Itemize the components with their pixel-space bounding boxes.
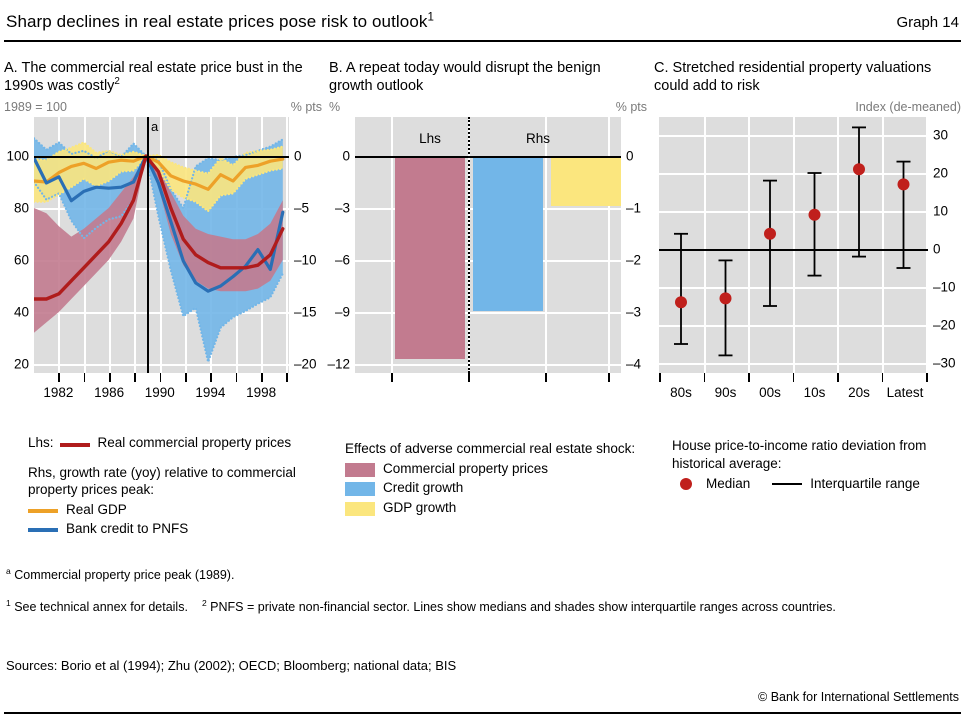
panel-b-legend: Effects of adverse commercial real estat… — [345, 440, 645, 516]
legend-b-row-gdp: GDP growth — [345, 499, 645, 517]
panel-c-marker-00s — [763, 181, 777, 306]
panel-c-tickbar — [659, 373, 928, 385]
legend-a-row-lhs: Lhs: Real commercial property prices — [28, 434, 328, 452]
legend-b-key-commercial-property-prices — [345, 463, 375, 477]
panel-a-ytick-left-0: 100 — [6, 149, 29, 164]
panel-a-unit-right: % pts — [291, 100, 322, 114]
title-footnote-marker: 1 — [427, 11, 434, 23]
legend-a-row-gdp: Real GDP — [28, 501, 328, 519]
legend-c-key-range-line — [772, 483, 802, 486]
panel-b: B. A repeat today would disrupt the beni… — [329, 60, 647, 385]
panel-b-ytick-right-0: 0 — [626, 149, 634, 164]
panel-b-ytick-right-4: –4 — [626, 357, 641, 372]
panel-a-xlabel-2: 1990 — [145, 385, 175, 400]
panel-c-units: Index (de-meaned) — [654, 100, 961, 117]
legend-b-label-credit-growth: Credit growth — [383, 479, 645, 497]
panel-c-ytick-5: –20 — [933, 318, 956, 333]
legend-c-median-dot-icon — [680, 478, 692, 490]
legend-a-row-credit: Bank credit to PNFS — [28, 520, 328, 538]
panel-c-ytick-2: 10 — [933, 204, 948, 219]
panel-c-zero-line — [659, 249, 928, 251]
page-header: Sharp declines in real estate prices pos… — [0, 8, 965, 44]
panel-c-marker-20s — [852, 127, 866, 256]
panel-b-unit-right: % pts — [616, 100, 647, 114]
panel-a-ytick-right-2: –10 — [294, 253, 317, 268]
footnote-1-marker: 1 — [6, 598, 11, 608]
panel-a-title: A. The commercial real estate price bust… — [4, 60, 322, 100]
panel-b-bar-credit-growth — [473, 156, 543, 311]
panel-a-xlabel-3: 1994 — [195, 385, 225, 400]
panel-b-bar-gdp-growth — [551, 156, 621, 206]
panel-b-ytick-left-1: –3 — [335, 201, 350, 216]
legend-a-label-credit: Bank credit to PNFS — [66, 520, 328, 538]
legend-c-head: House price-to-income ratio deviation fr… — [672, 437, 962, 472]
legend-b-row-credit: Credit growth — [345, 479, 645, 497]
legend-a-label-prices: Real commercial property prices — [98, 434, 328, 452]
legend-c-keys-row: Median Interquartile range — [672, 475, 962, 493]
footer-divider — [4, 712, 961, 714]
panel-b-plot: Lhs Rhs 0 –3 –6 –9 –12 0 –1 –2 –3 –4 — [355, 117, 621, 373]
legend-b-row-prices: Commercial property prices — [345, 460, 645, 478]
panel-a-tickbar — [34, 373, 289, 385]
legend-c-label-median: Median — [706, 475, 750, 493]
panel-b-ytick-right-1: –1 — [626, 201, 641, 216]
panel-a-plot: a 100 80 60 40 20 0 –5 –10 –15 –20 — [34, 117, 289, 373]
footnote-a-marker: a — [6, 566, 11, 576]
panel-c-ytick-3: 0 — [933, 242, 941, 257]
panel-c-ytick-4: –10 — [933, 280, 956, 295]
panel-c-marker-90s — [719, 260, 733, 355]
panel-a-xlabel-4: 1998 — [246, 385, 276, 400]
page-title: Sharp declines in real estate prices pos… — [6, 12, 434, 32]
panel-c-plot: 30 20 10 0 –10 –20 –30 — [659, 117, 928, 373]
panel-b-units: % % pts — [329, 100, 647, 117]
graph-number: Graph 14 — [896, 14, 959, 31]
panel-c: C. Stretched residential property valuat… — [654, 60, 961, 405]
panel-a-unit-left: 1989 = 100 — [4, 100, 67, 114]
panel-b-group-label-lhs: Lhs — [419, 131, 441, 146]
panel-a-peak-marker: a — [151, 119, 158, 134]
panel-a-xlabels: 1982 1986 1990 1994 1998 — [34, 385, 289, 405]
panel-a-ytick-right-0: 0 — [294, 149, 302, 164]
panel-a-ytick-left-4: 20 — [14, 357, 29, 372]
panel-c-title: C. Stretched residential property valuat… — [654, 60, 961, 100]
footnote-a-text: Commercial property price peak (1989). — [14, 568, 234, 582]
panel-c-xlabel-4: 20s — [848, 385, 870, 400]
copyright-line: © Bank for International Settlements — [758, 688, 959, 706]
panel-c-legend: House price-to-income ratio deviation fr… — [672, 437, 962, 493]
panel-b-zero-line — [355, 156, 621, 158]
legend-a-key-prices-line — [60, 443, 90, 447]
panel-b-tickbar — [355, 373, 621, 385]
panel-b-title: B. A repeat today would disrupt the beni… — [329, 60, 647, 100]
graph-page: Sharp declines in real estate prices pos… — [0, 0, 965, 720]
panel-b-unit-left: % — [329, 100, 340, 114]
panel-c-ytick-1: 20 — [933, 166, 948, 181]
panel-b-ytick-left-3: –9 — [335, 305, 350, 320]
legend-b-head: Effects of adverse commercial real estat… — [345, 440, 645, 458]
footnote-a: a Commercial property price peak (1989). — [6, 566, 956, 584]
panel-a-ytick-left-2: 60 — [14, 253, 29, 268]
panel-c-marker-10s — [808, 173, 822, 276]
legend-a-key-gdp-line — [28, 509, 58, 513]
legend-a-lhs-prefix: Lhs: — [28, 434, 54, 452]
sources-line: Sources: Borio et al (1994); Zhu (2002);… — [6, 657, 956, 676]
panel-a-legend: Lhs: Real commercial property prices Rhs… — [28, 432, 328, 538]
panel-a-footnote-marker: 2 — [114, 76, 119, 87]
panel-c-unit-right: Index (de-meaned) — [855, 100, 961, 114]
panel-c-ytick-0: 30 — [933, 128, 948, 143]
panel-a-ytick-right-1: –5 — [294, 201, 309, 216]
legend-c-label-range: Interquartile range — [810, 475, 920, 493]
panel-b-ytick-left-4: –12 — [327, 357, 350, 372]
header-divider — [4, 40, 961, 42]
panel-b-ytick-left-0: 0 — [342, 149, 350, 164]
panel-a-ytick-right-4: –20 — [294, 357, 317, 372]
panel-a-xlabel-1: 1986 — [94, 385, 124, 400]
panel-a-ytick-right-3: –15 — [294, 305, 317, 320]
panel-c-xlabel-2: 00s — [759, 385, 781, 400]
panel-b-ytick-right-3: –3 — [626, 305, 641, 320]
panel-b-group-label-rhs: Rhs — [526, 131, 550, 146]
panel-b-bar-commercial-property-prices — [395, 156, 465, 359]
panel-c-xlabel-1: 90s — [715, 385, 737, 400]
legend-b-label-commercial-property-prices: Commercial property prices — [383, 460, 645, 478]
footnote-numbered: 1 See technical annex for details.2 PNFS… — [6, 598, 956, 616]
panel-a-units: 1989 = 100 % pts — [4, 100, 322, 117]
panel-c-xlabel-5: Latest — [887, 385, 924, 400]
panel-a-ytick-left-1: 80 — [14, 201, 29, 216]
panel-c-xlabel-0: 80s — [670, 385, 692, 400]
legend-b-key-credit-growth — [345, 482, 375, 496]
footnote-1-text: See technical annex for details. — [14, 600, 188, 614]
panel-c-series-svg — [659, 117, 928, 373]
panel-a: A. The commercial real estate price bust… — [4, 60, 322, 405]
panel-c-xlabel-3: 10s — [804, 385, 826, 400]
panel-c-xlabels: 80s 90s 00s 10s 20s Latest — [659, 385, 928, 405]
panel-c-marker-latest — [897, 162, 911, 268]
panel-b-ytick-left-2: –6 — [335, 253, 350, 268]
footnote-2-text: PNFS = private non-financial sector. Lin… — [210, 600, 836, 614]
legend-b-key-gdp-growth — [345, 502, 375, 516]
panel-c-ytick-6: –30 — [933, 356, 956, 371]
legend-b-label-gdp-growth: GDP growth — [383, 499, 645, 517]
footnote-2-marker: 2 — [202, 598, 207, 608]
panel-b-ytick-right-2: –2 — [626, 253, 641, 268]
panel-a-zero-line — [34, 156, 289, 158]
legend-a-rhs-head: Rhs, growth rate (yoy) relative to comme… — [28, 464, 328, 499]
legend-a-label-gdp: Real GDP — [66, 501, 328, 519]
legend-a-key-credit-line — [28, 528, 58, 532]
panel-a-ytick-left-3: 40 — [14, 305, 29, 320]
panel-a-xlabel-0: 1982 — [43, 385, 73, 400]
